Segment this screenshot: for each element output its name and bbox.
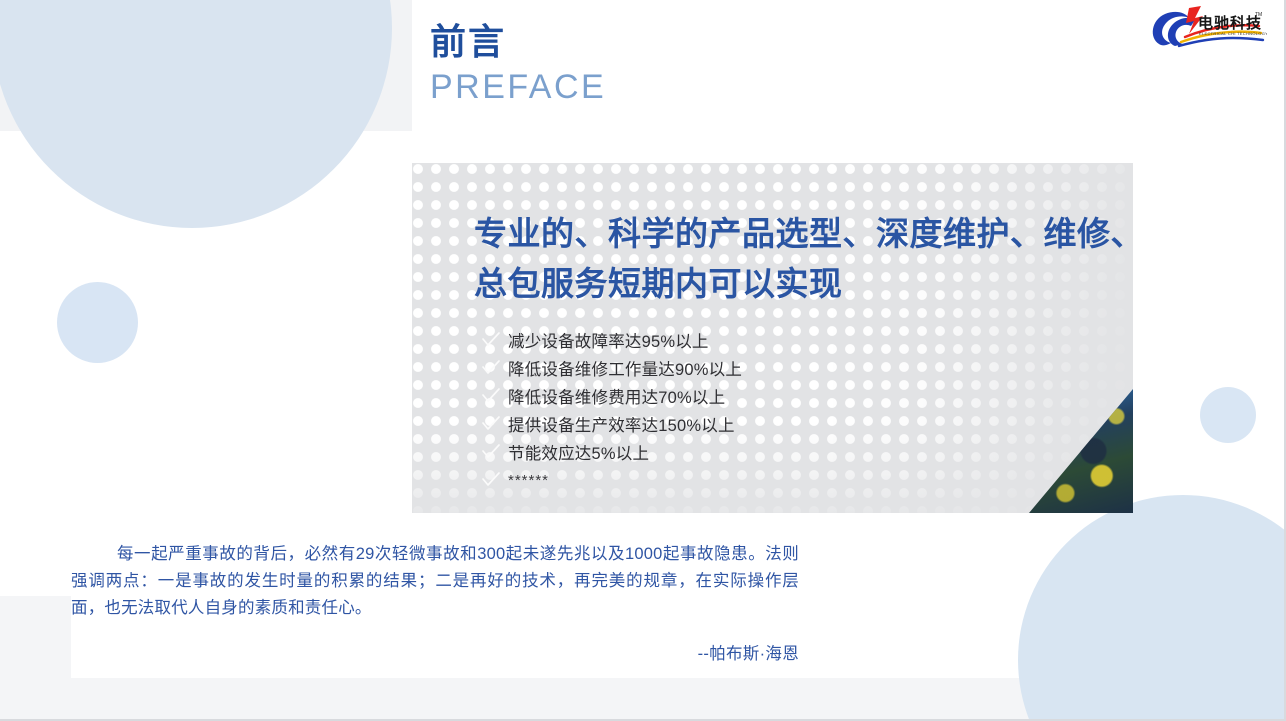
- benefit-list: 减少设备故障率达95%以上 降低设备维修工作量达90%以上 降低设备维修费用达7…: [474, 326, 1133, 494]
- quote-attribution: --帕布斯·海恩: [698, 640, 799, 664]
- page-title-en: PREFACE: [430, 66, 1134, 109]
- background-band-top: [0, 0, 412, 131]
- panel-headline-line2: 总包服务短期内可以实现: [474, 259, 1133, 309]
- list-item-label: 节能效应达5%以上: [508, 440, 649, 464]
- check-icon: [474, 387, 508, 405]
- list-item: 降低设备维修工作量达90%以上: [474, 354, 1133, 382]
- panel-headline-line1: 专业的、科学的产品选型、深度维护、维修、: [474, 209, 1133, 259]
- list-item-label: 减少设备故障率达95%以上: [508, 328, 709, 352]
- svg-text:ELECTRICAL CHI TECHNOLOGY: ELECTRICAL CHI TECHNOLOGY: [1199, 31, 1267, 36]
- list-item-label: 降低设备维修工作量达90%以上: [508, 356, 742, 380]
- slide-canvas: 前言 PREFACE 电驰科技 ELECTRICAL CHI TECHNOLOG…: [0, 0, 1286, 721]
- svg-text:TM: TM: [1255, 12, 1262, 18]
- decorative-circle-bottom-right: [1018, 495, 1286, 721]
- decorative-circle-small-right: [1200, 387, 1256, 443]
- list-item-label: 降低设备维修费用达70%以上: [508, 384, 725, 408]
- brand-logo: 电驰科技 ELECTRICAL CHI TECHNOLOGY TM: [1128, 0, 1284, 56]
- check-icon: [474, 415, 508, 433]
- panel-content: 专业的、科学的产品选型、深度维护、维修、 总包服务短期内可以实现 减少设备故障率…: [412, 163, 1133, 513]
- list-item: 提供设备生产效率达150%以上: [474, 410, 1133, 438]
- list-item-label: 提供设备生产效率达150%以上: [508, 412, 735, 436]
- background-band-bottom-left: [0, 596, 72, 721]
- content-panel: 专业的、科学的产品选型、深度维护、维修、 总包服务短期内可以实现 减少设备故障率…: [412, 163, 1133, 513]
- page-title-cn: 前言: [430, 22, 1134, 62]
- list-item: ******: [474, 466, 1133, 494]
- check-icon: [474, 443, 508, 461]
- list-item-label: ******: [508, 472, 549, 489]
- logo-wrap: 电驰科技 ELECTRICAL CHI TECHNOLOGY TM: [1145, 4, 1267, 52]
- decorative-circle-small-left: [57, 282, 138, 363]
- slide-header: 前言 PREFACE: [412, 0, 1134, 140]
- list-item: 减少设备故障率达95%以上: [474, 326, 1133, 354]
- decorative-circle-top-left: [0, 0, 392, 228]
- check-icon: [474, 359, 508, 377]
- quote-block: 每一起严重事故的背后，必然有29次轻微事故和300起未遂先兆以及1000起事故隐…: [71, 527, 823, 678]
- list-item: 降低设备维修费用达70%以上: [474, 382, 1133, 410]
- check-icon: [474, 471, 508, 489]
- quote-body: 每一起严重事故的背后，必然有29次轻微事故和300起未遂先兆以及1000起事故隐…: [71, 541, 799, 623]
- svg-text:电驰科技: 电驰科技: [1198, 14, 1262, 32]
- check-icon: [474, 331, 508, 349]
- list-item: 节能效应达5%以上: [474, 438, 1133, 466]
- company-logo-icon: 电驰科技 ELECTRICAL CHI TECHNOLOGY TM: [1145, 4, 1267, 52]
- background-band-bottom: [0, 678, 1286, 721]
